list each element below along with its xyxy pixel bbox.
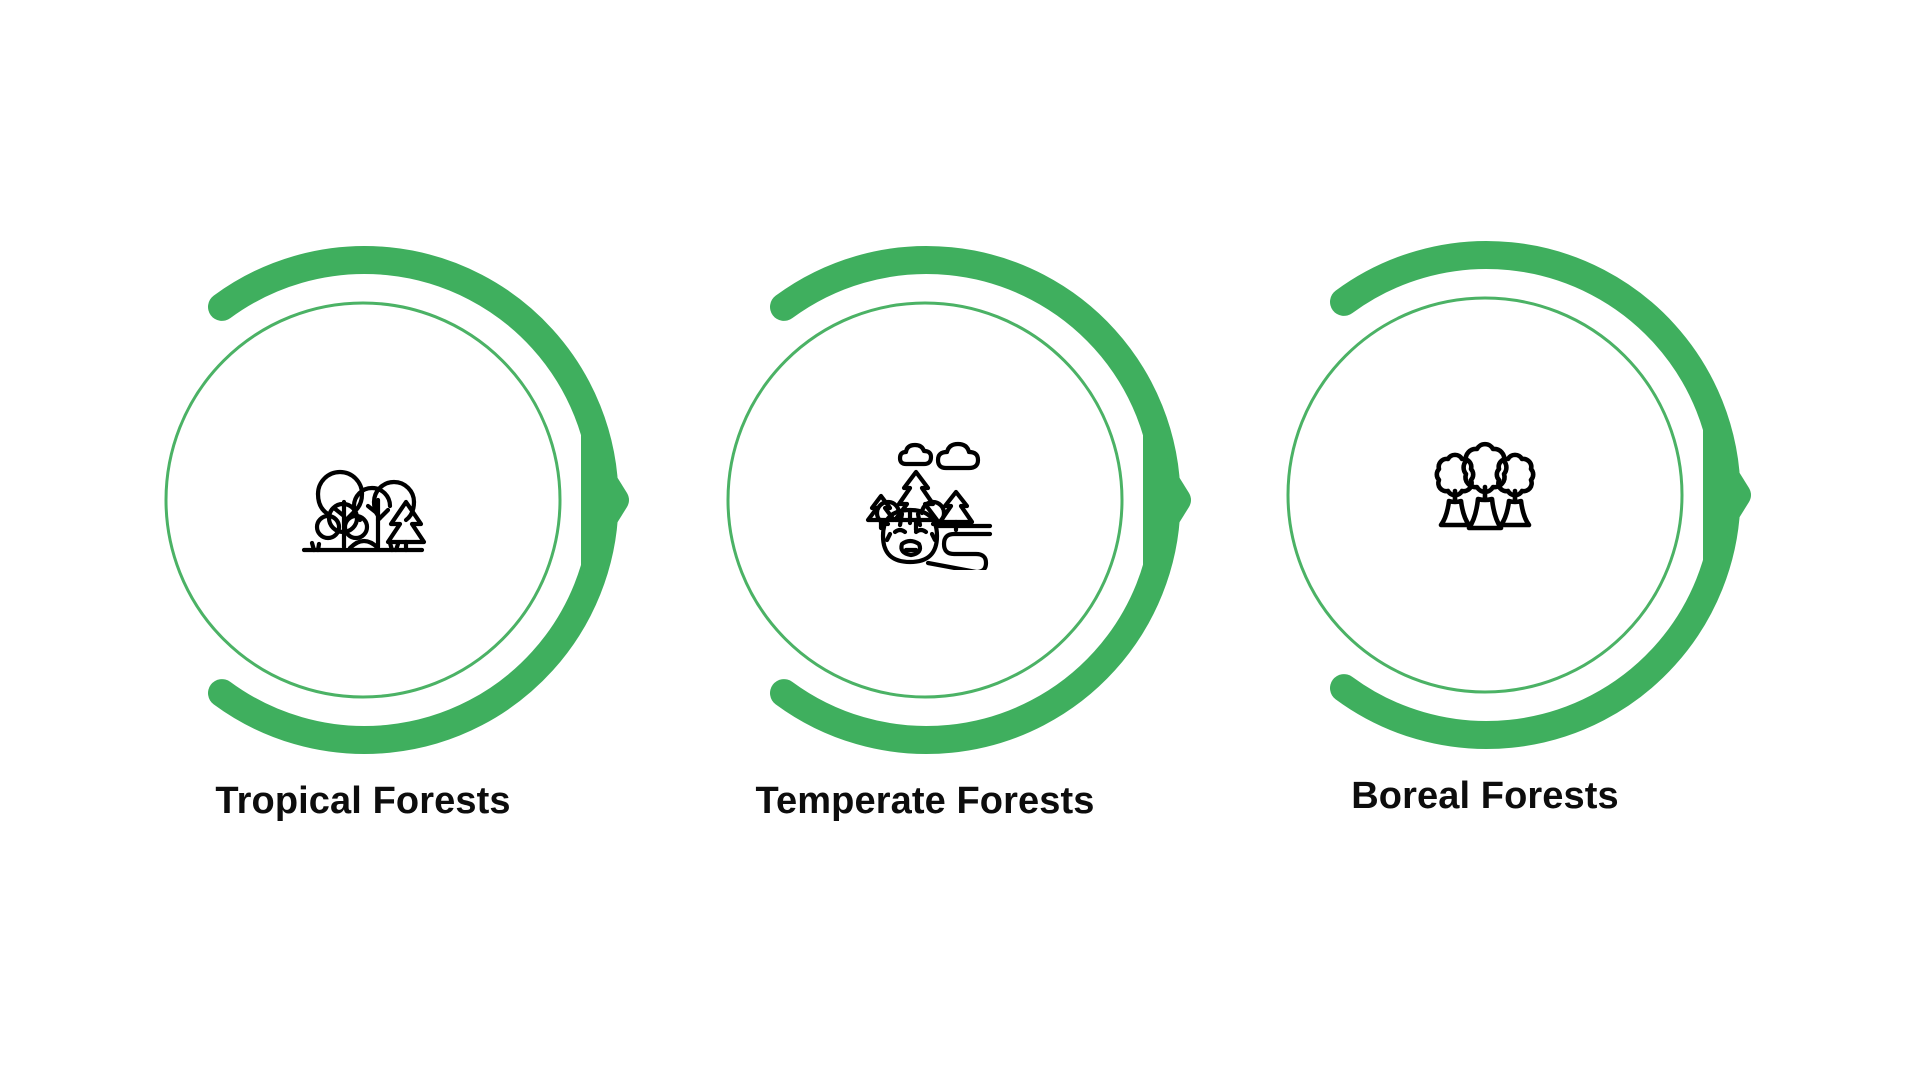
forest-steps-row: Tropical Forests <box>0 0 1920 1080</box>
inner-circle-outline-boreal <box>1288 298 1682 692</box>
badge-ring-graphic-temperate <box>645 250 1205 750</box>
badge-ring-graphic-boreal <box>1205 245 1765 745</box>
outer-progress-arc-boreal <box>1344 255 1727 735</box>
step-label-temperate: Temperate Forests <box>645 780 1205 823</box>
badge-boreal[interactable] <box>1205 245 1765 745</box>
step-tropical[interactable]: Tropical Forests <box>83 250 643 870</box>
badge-tropical[interactable] <box>83 250 643 750</box>
step-label-boreal: Boreal Forests <box>1205 775 1765 818</box>
step-temperate[interactable]: Temperate Forests <box>645 250 1205 870</box>
step-boreal[interactable]: Boreal Forests <box>1205 245 1765 865</box>
inner-circle-outline-temperate <box>728 303 1122 697</box>
outer-progress-arc-tropical <box>222 260 605 740</box>
badge-temperate[interactable] <box>645 250 1205 750</box>
step-label-tropical: Tropical Forests <box>83 780 643 823</box>
outer-progress-arc-temperate <box>784 260 1167 740</box>
infographic-canvas: Tropical Forests <box>0 0 1920 1080</box>
badge-ring-graphic-tropical <box>83 250 643 750</box>
inner-circle-outline-tropical <box>166 303 560 697</box>
